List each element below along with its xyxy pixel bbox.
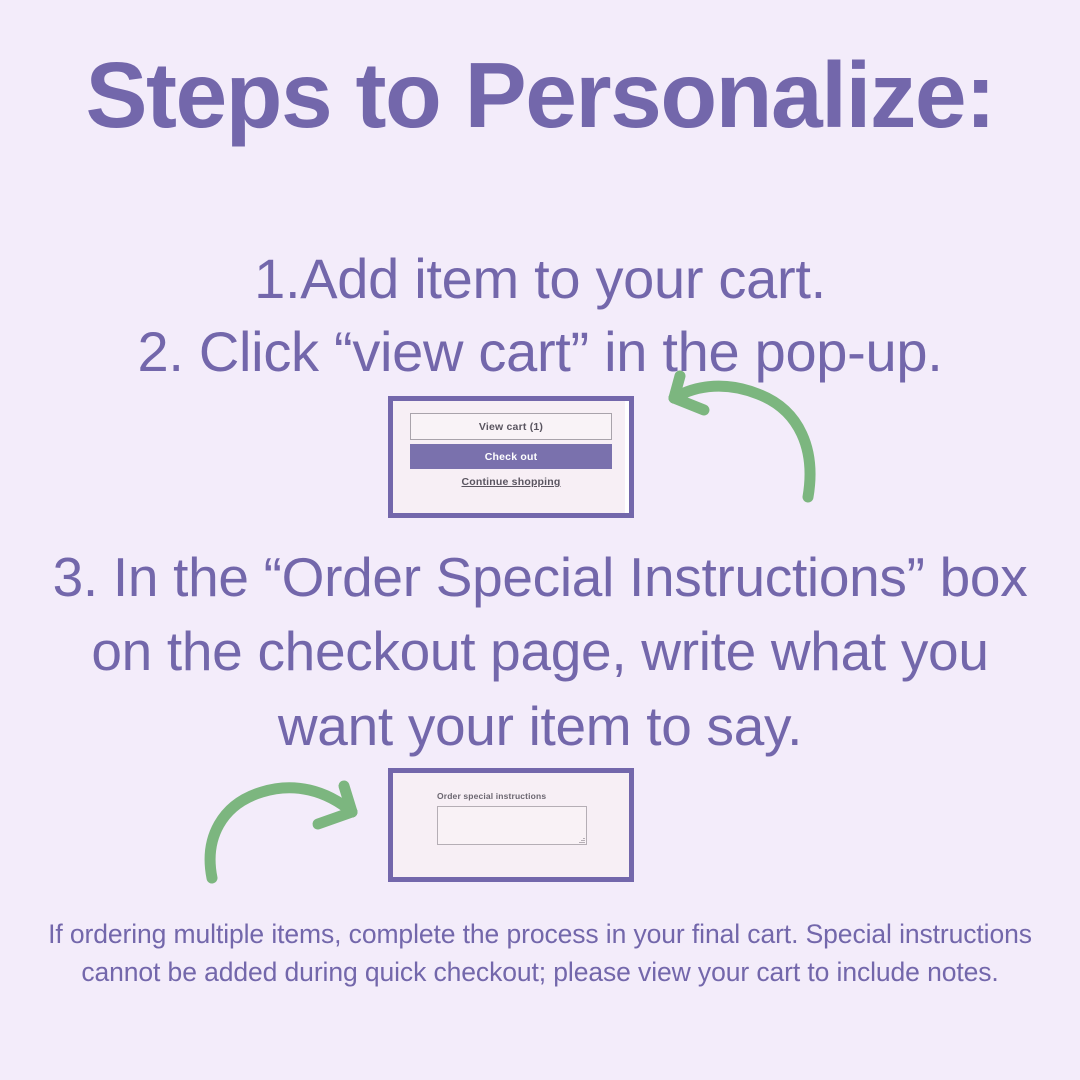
- step-item-3: 3. In the “Order Special Instructions” b…: [30, 540, 1050, 763]
- arrow-to-instructions-box-icon: [196, 778, 396, 888]
- check-out-button[interactable]: Check out: [410, 444, 612, 469]
- steps-list: 1.Add item to your cart. 2. Click “view …: [0, 243, 1080, 389]
- continue-shopping-link[interactable]: Continue shopping: [410, 476, 612, 488]
- resize-handle-icon[interactable]: [579, 837, 585, 843]
- footer-note: If ordering multiple items, complete the…: [34, 916, 1046, 991]
- cart-popup-screenshot: View cart (1) Check out Continue shoppin…: [388, 396, 634, 518]
- view-cart-button[interactable]: View cart (1): [410, 413, 612, 440]
- arrow-to-cart-popup-icon: [640, 372, 840, 507]
- step-item-2: 2. Click “view cart” in the pop-up.: [0, 316, 1080, 389]
- scrollbar[interactable]: [625, 401, 629, 513]
- order-special-instructions-textarea[interactable]: [437, 806, 587, 845]
- instructions-body: Order special instructions: [393, 773, 629, 877]
- order-instructions-screenshot: Order special instructions: [388, 768, 634, 882]
- page-title: Steps to Personalize:: [0, 44, 1080, 146]
- order-special-instructions-label: Order special instructions: [437, 791, 609, 801]
- step-item-1: 1.Add item to your cart.: [0, 243, 1080, 316]
- poster-canvas: Steps to Personalize: 1.Add item to your…: [0, 0, 1080, 1080]
- cart-popup-body: View cart (1) Check out Continue shoppin…: [393, 401, 629, 513]
